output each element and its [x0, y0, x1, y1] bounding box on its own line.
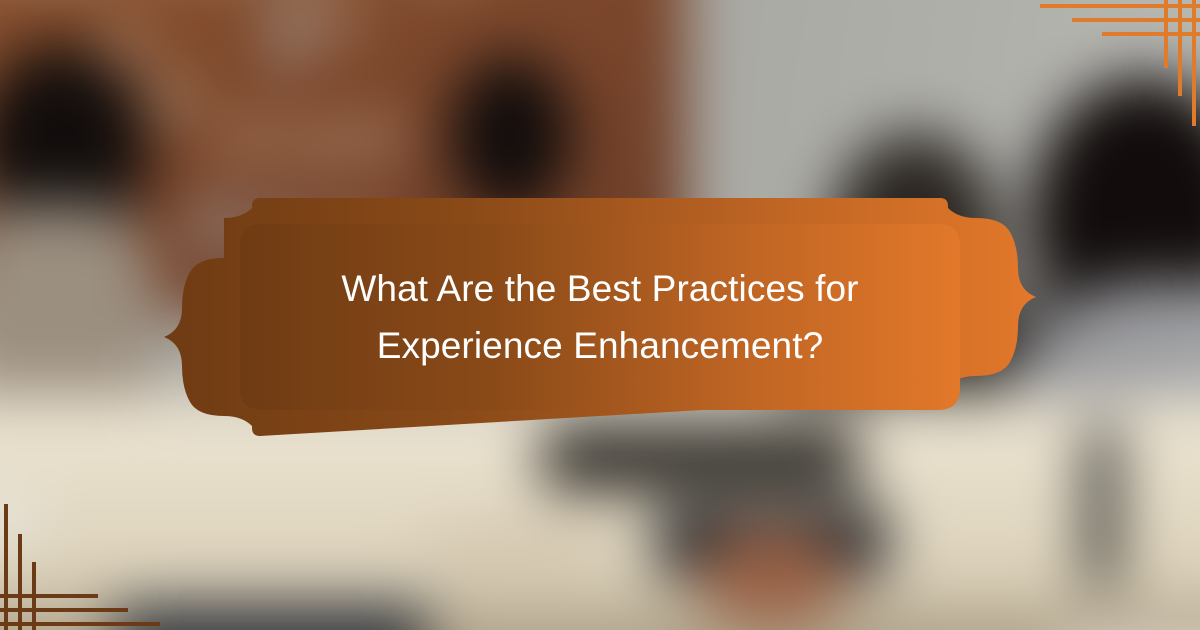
page-title: What Are the Best Practices for Experien… — [254, 260, 946, 375]
corner-line-vertical — [18, 534, 22, 630]
corner-decoration-bottom-left — [0, 500, 170, 630]
corner-decoration-top-right — [1030, 0, 1200, 130]
person-head — [449, 57, 571, 216]
corner-line-horizontal — [0, 594, 98, 598]
corner-line-horizontal — [1040, 4, 1200, 8]
title-card: What Are the Best Practices for Experien… — [104, 198, 1096, 436]
corner-line-vertical — [32, 562, 36, 630]
corner-line-vertical — [1192, 0, 1196, 126]
corner-line-vertical — [1164, 0, 1168, 68]
corner-line-horizontal — [0, 622, 160, 626]
paper-sheet — [428, 530, 600, 562]
corner-line-vertical — [4, 504, 8, 630]
person-hand — [700, 530, 843, 625]
pen — [1087, 426, 1116, 585]
title-card-text-area: What Are the Best Practices for Experien… — [104, 198, 1096, 436]
corner-line-vertical — [1178, 0, 1182, 96]
corner-line-horizontal — [1102, 32, 1200, 36]
featured-image-canvas: What Are the Best Practices for Experien… — [0, 0, 1200, 630]
